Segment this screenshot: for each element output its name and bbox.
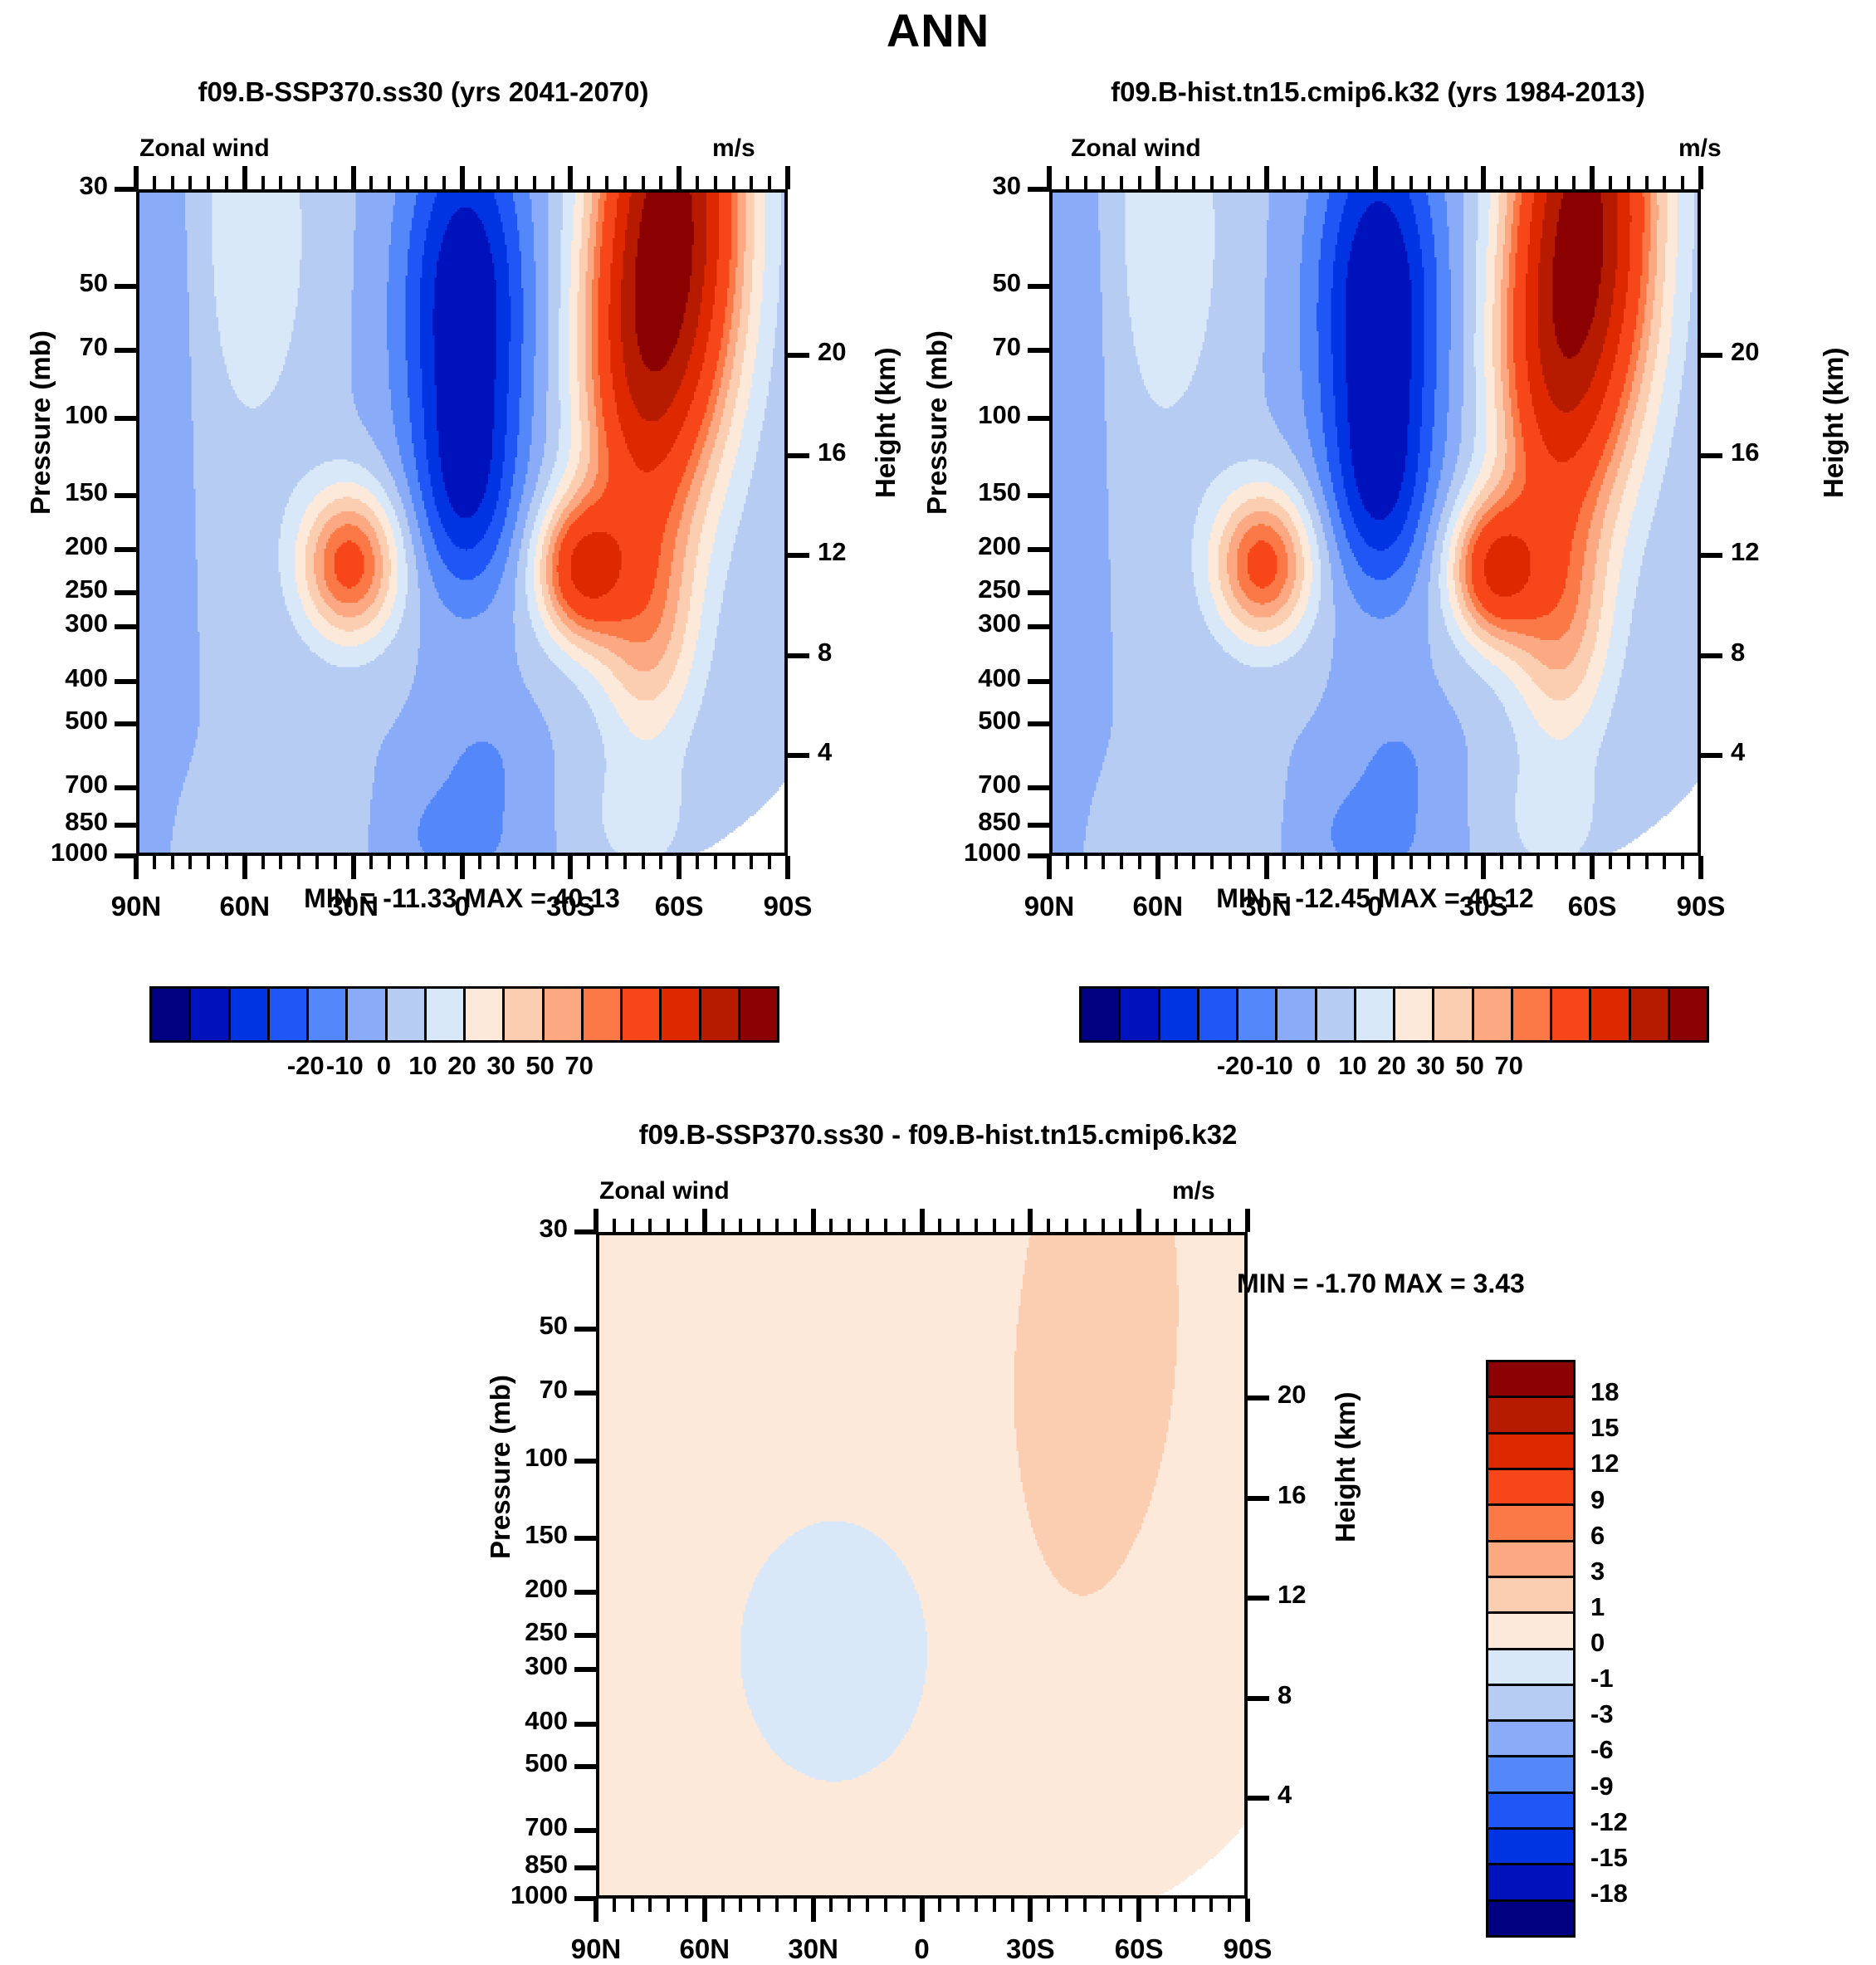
x-tick-minor (631, 1899, 634, 1912)
y-tick (1028, 721, 1049, 726)
x-tick-minor (1282, 856, 1286, 869)
x-tick-top-minor (1228, 1219, 1231, 1232)
x-tick-minor (1428, 856, 1431, 869)
x-tick-minor (605, 856, 608, 869)
figure-root: ANN f09.B-SSP370.ss30 (yrs 2041-2070) Zo… (0, 0, 1876, 1964)
y2-tick-label: 8 (1731, 638, 1805, 667)
colorbar-swatch (1356, 989, 1395, 1040)
y-tick-label: 300 (438, 1651, 568, 1681)
colorbar-tick-label: -9 (1590, 1772, 1614, 1801)
y-tick (1028, 590, 1049, 595)
x-tick-minor (648, 1899, 652, 1912)
contour-plot-difference[interactable] (596, 1232, 1248, 1899)
x-tick-top-major (1264, 166, 1269, 189)
x-tick-minor (1011, 1899, 1014, 1912)
y-tick (1028, 416, 1049, 421)
y-tick-label: 1000 (0, 838, 108, 868)
x-tick-minor (732, 856, 735, 869)
y2-tick (788, 753, 809, 758)
colorbar-swatch (662, 989, 701, 1040)
x-tick-minor (1319, 856, 1322, 869)
x-tick-top-major (242, 166, 247, 189)
x-tick-minor (1627, 856, 1630, 869)
x-tick-top-minor (1065, 1219, 1068, 1232)
contour-field (599, 1235, 1248, 1899)
colorbar-swatch (231, 989, 270, 1040)
x-tick-major (811, 1899, 816, 1922)
x-tick-minor (1175, 856, 1178, 869)
x-tick-top-minor (388, 176, 391, 189)
y-tick (1028, 823, 1049, 828)
x-tick-top-major (568, 166, 573, 189)
x-tick-minor (1555, 856, 1558, 869)
x-tick-top-major (1698, 166, 1703, 189)
x-tick-minor (685, 1899, 688, 1912)
x-tick-top-minor (207, 176, 210, 189)
colorbar-tick-label: -15 (1590, 1843, 1628, 1873)
x-tick-minor (1464, 856, 1468, 869)
colorbar-swatch (1631, 989, 1670, 1040)
x-tick-minor (642, 856, 645, 869)
x-tick-top-minor (1609, 176, 1612, 189)
x-tick-major (1373, 856, 1378, 879)
colorbar-swatch (1317, 989, 1356, 1040)
x-tick-top-minor (587, 176, 590, 189)
x-tick-top-minor (750, 176, 753, 189)
x-tick-minor (1209, 1899, 1213, 1912)
colorbar-tick-label: 9 (1590, 1485, 1605, 1515)
colorbar-swatch (1488, 1506, 1573, 1542)
colorbar-swatch (1513, 989, 1552, 1040)
y-tick-label: 500 (892, 706, 1021, 736)
x-tick-top-minor (1229, 176, 1232, 189)
x-tick-minor (750, 856, 753, 869)
colorbar-tick-label: 6 (1590, 1521, 1605, 1551)
x-tick-minor (613, 1899, 616, 1912)
y-tick-label: 100 (892, 400, 1021, 430)
y2-tick (1701, 553, 1722, 558)
x-tick-top-minor (171, 176, 174, 189)
y-tick (115, 284, 136, 289)
x-tick-major (785, 856, 790, 879)
colorbar-tick-label: 70 (1451, 1051, 1567, 1081)
contour-plot-top-right[interactable] (1049, 189, 1701, 856)
colorbar-swatch (740, 989, 777, 1040)
x-tick-minor (975, 1899, 978, 1912)
contour-field (139, 193, 788, 856)
x-tick-major (1481, 856, 1486, 879)
y2-tick-label: 12 (818, 537, 892, 567)
x-tick-top-major (1136, 1209, 1141, 1232)
x-tick-top-minor (613, 1219, 616, 1232)
x-tick-top-major (1245, 1209, 1250, 1232)
y-tick (115, 785, 136, 790)
x-tick-minor (739, 1899, 742, 1912)
y-tick (1028, 348, 1049, 353)
x-tick-top-minor (1645, 176, 1649, 189)
x-tick-top-minor (648, 1219, 652, 1232)
y2-tick-label: 4 (1278, 1780, 1352, 1810)
x-tick-minor (1047, 1899, 1050, 1912)
colorbar-swatch (505, 989, 544, 1040)
y-tick-label: 150 (438, 1520, 568, 1550)
x-tick-major (1028, 1899, 1033, 1922)
y-tick (574, 1722, 596, 1727)
colorbar-tick-label: 70 (521, 1051, 638, 1081)
x-tick-major (568, 856, 573, 879)
contour-band (1346, 201, 1412, 520)
x-tick-top-minor (1282, 176, 1286, 189)
y-tick (574, 1667, 596, 1672)
x-tick-top-major (1481, 166, 1486, 189)
x-tick-minor (1609, 856, 1612, 869)
y-tick (115, 348, 136, 353)
colorbar-tick-label: -18 (1590, 1879, 1628, 1909)
colorbar-swatch (1488, 1470, 1573, 1506)
panel-title-top-left: f09.B-SSP370.ss30 (yrs 2041-2070) (50, 76, 797, 108)
y-tick-label: 200 (0, 531, 108, 561)
x-tick-top-minor (1011, 1219, 1014, 1232)
x-tick-minor (1572, 856, 1576, 869)
variable-label-top-right: Zonal wind (1071, 134, 1201, 163)
x-tick-top-minor (1409, 176, 1413, 189)
x-tick-top-minor (1536, 176, 1540, 189)
panel-title-difference: f09.B-SSP370.ss30 - f09.B-hist.tn15.cmip… (465, 1119, 1411, 1151)
y-tick-label: 700 (438, 1812, 568, 1842)
x-tick-minor (1102, 1899, 1105, 1912)
x-tick-minor (1645, 856, 1649, 869)
y2-axis-label-top-right: Height (km) (1818, 348, 1849, 499)
colorbar-swatch (152, 989, 191, 1040)
y2-tick-label: 20 (1731, 337, 1805, 367)
x-tick-top-major (1028, 1209, 1033, 1232)
x-tick-top-minor (1464, 176, 1468, 189)
x-tick-top-minor (1138, 176, 1141, 189)
y-tick (574, 1590, 596, 1595)
x-tick-minor (866, 1899, 869, 1912)
colorbar-tick-label: -6 (1590, 1735, 1614, 1765)
x-tick-minor (1119, 1899, 1122, 1912)
contour-field (1053, 193, 1701, 856)
x-tick-top-minor (696, 176, 699, 189)
y-tick-label: 200 (438, 1574, 568, 1604)
x-tick-top-minor (902, 1219, 906, 1232)
y-tick-label: 50 (0, 268, 108, 298)
y2-tick (788, 453, 809, 458)
x-tick-minor (315, 856, 319, 869)
colorbar-swatch (1488, 1542, 1573, 1578)
x-tick-top-minor (1319, 176, 1322, 189)
x-tick-minor (1102, 856, 1105, 869)
x-tick-top-minor (369, 176, 373, 189)
y-tick-label: 400 (892, 663, 1021, 693)
y2-tick (1701, 653, 1722, 658)
y2-tick (1701, 753, 1722, 758)
y-tick (574, 1865, 596, 1870)
y2-tick (788, 553, 809, 558)
y-tick-label: 850 (438, 1850, 568, 1879)
colorbar-swatch (1395, 989, 1434, 1040)
x-tick-minor (587, 856, 590, 869)
colorbar-swatch (1488, 1794, 1573, 1830)
y-tick (574, 1633, 596, 1638)
x-tick-top-minor (866, 1219, 869, 1232)
colorbar-swatch (1474, 989, 1513, 1040)
x-tick-top-major (594, 1209, 598, 1232)
x-tick-top-major (351, 166, 356, 189)
colorbar-swatch (1488, 1902, 1573, 1935)
colorbar-swatch (309, 989, 348, 1040)
colorbar-tick-label: 3 (1590, 1557, 1605, 1586)
colorbar-tick-label: 0 (1590, 1628, 1605, 1658)
x-tick-top-minor (1192, 176, 1195, 189)
x-tick-top-major (1155, 166, 1160, 189)
x-tick-top-major (1590, 166, 1595, 189)
y-tick-label: 100 (438, 1443, 568, 1473)
x-tick-minor (171, 856, 174, 869)
y2-tick-label: 16 (1278, 1480, 1352, 1510)
y-tick-label: 30 (438, 1214, 568, 1244)
y-tick-label: 700 (0, 770, 108, 799)
variable-label-difference: Zonal wind (599, 1177, 730, 1205)
x-tick-top-minor (1174, 1219, 1177, 1232)
y2-tick (1248, 1496, 1269, 1501)
x-tick-top-minor (188, 176, 192, 189)
x-tick-minor (1066, 856, 1069, 869)
colorbar-tick-label: -12 (1590, 1807, 1628, 1837)
x-tick-top-minor (1572, 176, 1576, 189)
panel-title-top-right: f09.B-hist.tn15.cmip6.k32 (yrs 1984-2013… (971, 76, 1785, 108)
x-tick-major (1155, 856, 1160, 879)
x-tick-top-minor (938, 1219, 941, 1232)
colorbar-top-right[interactable] (1079, 986, 1709, 1043)
y-tick (115, 679, 136, 684)
y-tick (574, 1536, 596, 1541)
units-label-top-right: m/s (1678, 134, 1722, 163)
x-tick-major (351, 856, 356, 879)
x-tick-minor (1446, 856, 1449, 869)
x-tick-minor (848, 1899, 851, 1912)
x-tick-top-minor (1047, 1219, 1050, 1232)
colorbar-swatch (1488, 1578, 1573, 1614)
x-tick-top-minor (334, 176, 337, 189)
y2-tick (788, 653, 809, 658)
x-tick-top-major (460, 166, 465, 189)
x-tick-top-minor (315, 176, 319, 189)
y-tick-label: 400 (0, 663, 108, 693)
x-tick-top-minor (1663, 176, 1666, 189)
contour-band (740, 1521, 927, 1782)
x-tick-top-minor (1627, 176, 1630, 189)
x-tick-major (677, 856, 682, 879)
x-tick-top-major (1047, 166, 1052, 189)
x-tick-top-minor (975, 1219, 978, 1232)
y-tick-label: 30 (0, 171, 108, 201)
y-tick (1028, 679, 1049, 684)
x-tick-top-minor (848, 1219, 851, 1232)
x-tick-minor (667, 1899, 670, 1912)
y-tick (1028, 547, 1049, 552)
x-tick-top-minor (1681, 176, 1684, 189)
y2-tick (1248, 1796, 1269, 1801)
y-tick (1028, 785, 1049, 790)
x-tick-minor (1210, 856, 1214, 869)
colorbar-swatch (1488, 1757, 1573, 1793)
y-tick (574, 1391, 596, 1396)
y-tick (574, 1327, 596, 1332)
x-tick-minor (1663, 856, 1666, 869)
colorbar-difference[interactable] (1486, 1360, 1576, 1938)
colorbar-swatch (1488, 1830, 1573, 1865)
x-tick-top-major (1373, 166, 1378, 189)
x-tick-top-minor (1428, 176, 1431, 189)
x-tick-top-minor (406, 176, 409, 189)
x-tick-top-minor (153, 176, 156, 189)
x-tick-major (1590, 856, 1595, 879)
x-tick-top-minor (794, 1219, 797, 1232)
y2-tick-label: 16 (818, 437, 892, 467)
x-tick-top-minor (732, 176, 735, 189)
colorbar-swatch (1670, 989, 1707, 1040)
x-tick-top-minor (1337, 176, 1341, 189)
x-tick-minor (768, 856, 771, 869)
x-tick-minor (829, 1899, 833, 1912)
colorbar-swatch (623, 989, 662, 1040)
y-tick (1028, 493, 1049, 498)
colorbar-tick-label: -3 (1590, 1699, 1614, 1729)
x-tick-top-minor (1391, 176, 1395, 189)
x-tick-top-minor (1155, 1219, 1159, 1232)
x-tick-top-minor (642, 176, 645, 189)
x-tick-minor (297, 856, 300, 869)
colorbar-swatch (191, 989, 230, 1040)
y2-tick (1248, 1596, 1269, 1601)
colorbar-swatch (348, 989, 387, 1040)
colorbar-swatch (427, 989, 466, 1040)
y-tick-label: 150 (892, 477, 1021, 507)
x-tick-minor (334, 856, 337, 869)
x-tick-top-minor (1356, 176, 1359, 189)
x-tick-minor (442, 856, 446, 869)
y2-tick-label: 8 (818, 638, 892, 667)
x-tick-top-minor (424, 176, 427, 189)
x-tick-minor (478, 856, 481, 869)
colorbar-swatch (1199, 989, 1238, 1040)
y2-tick-label: 12 (1278, 1580, 1352, 1610)
y2-tick-label: 12 (1731, 537, 1805, 567)
x-tick-minor (533, 856, 536, 869)
colorbar-swatch (1488, 1614, 1573, 1650)
y-tick (115, 624, 136, 629)
y-tick-label: 500 (438, 1748, 568, 1778)
colorbar-swatch (1488, 1398, 1573, 1434)
y-tick (115, 721, 136, 726)
colorbar-top-left[interactable] (149, 986, 779, 1043)
x-tick-top-minor (714, 176, 717, 189)
x-tick-minor (369, 856, 373, 869)
y-tick-label: 1000 (892, 838, 1021, 868)
y2-tick-label: 4 (1731, 737, 1805, 767)
x-tick-minor (1500, 856, 1503, 869)
y-tick-label: 300 (0, 609, 108, 638)
x-tick-minor (1409, 856, 1413, 869)
x-tick-top-minor (496, 176, 500, 189)
x-tick-top-major (702, 1209, 707, 1232)
contour-plot-top-left[interactable] (136, 189, 788, 856)
x-tick-major (702, 1899, 707, 1922)
x-tick-major (1264, 856, 1269, 879)
minmax-difference: MIN = -1.70 MAX = 3.43 (1237, 1268, 1751, 1299)
x-tick-label: 90S (721, 891, 854, 922)
x-tick-minor (225, 856, 228, 869)
x-tick-minor (188, 856, 192, 869)
x-tick-top-minor (279, 176, 282, 189)
y-tick (115, 547, 136, 552)
x-tick-major (920, 1899, 925, 1922)
x-tick-top-minor (1210, 176, 1214, 189)
x-tick-top-minor (884, 1219, 887, 1232)
x-tick-top-minor (659, 176, 662, 189)
x-tick-minor (1084, 856, 1087, 869)
y2-tick (1701, 353, 1722, 358)
colorbar-swatch (1488, 1650, 1573, 1686)
x-tick-top-minor (667, 1219, 670, 1232)
x-tick-top-minor (1192, 1219, 1195, 1232)
y-tick (115, 823, 136, 828)
y-tick (1028, 284, 1049, 289)
contour-band (432, 207, 497, 518)
y-tick-label: 150 (0, 477, 108, 507)
colorbar-swatch (1552, 989, 1591, 1040)
colorbar-swatch (270, 989, 309, 1040)
x-tick-major (1047, 856, 1052, 879)
y-tick (574, 1764, 596, 1769)
colorbar-swatch (1238, 989, 1278, 1040)
colorbar-swatch (1488, 1362, 1573, 1398)
x-tick-minor (551, 856, 554, 869)
x-tick-top-minor (768, 176, 771, 189)
colorbar-swatch (1278, 989, 1317, 1040)
colorbar-swatch (545, 989, 584, 1040)
x-tick-top-major (785, 166, 790, 189)
x-tick-top-minor (685, 1219, 688, 1232)
y-tick-label: 70 (0, 332, 108, 362)
x-tick-major (1245, 1899, 1250, 1922)
colorbar-swatch (1591, 989, 1630, 1040)
x-tick-top-minor (605, 176, 608, 189)
colorbar-tick-label: 18 (1590, 1377, 1619, 1407)
x-tick-minor (424, 856, 427, 869)
y-tick (115, 416, 136, 421)
x-tick-top-major (677, 166, 682, 189)
x-tick-top-minor (533, 176, 536, 189)
x-tick-minor (153, 856, 156, 869)
y-tick-label: 500 (0, 706, 108, 736)
y2-tick (1701, 453, 1722, 458)
x-tick-major (242, 856, 247, 879)
x-tick-top-minor (721, 1219, 725, 1232)
x-tick-minor (1229, 856, 1232, 869)
colorbar-swatch (466, 989, 505, 1040)
y-tick-label: 70 (892, 332, 1021, 362)
x-tick-major (1136, 1899, 1141, 1922)
x-tick-minor (938, 1899, 941, 1912)
colorbar-swatch (701, 989, 740, 1040)
x-tick-top-minor (1102, 176, 1105, 189)
variable-label-top-left: Zonal wind (139, 134, 270, 163)
y2-tick-label: 4 (818, 737, 892, 767)
x-tick-major (1698, 856, 1703, 879)
